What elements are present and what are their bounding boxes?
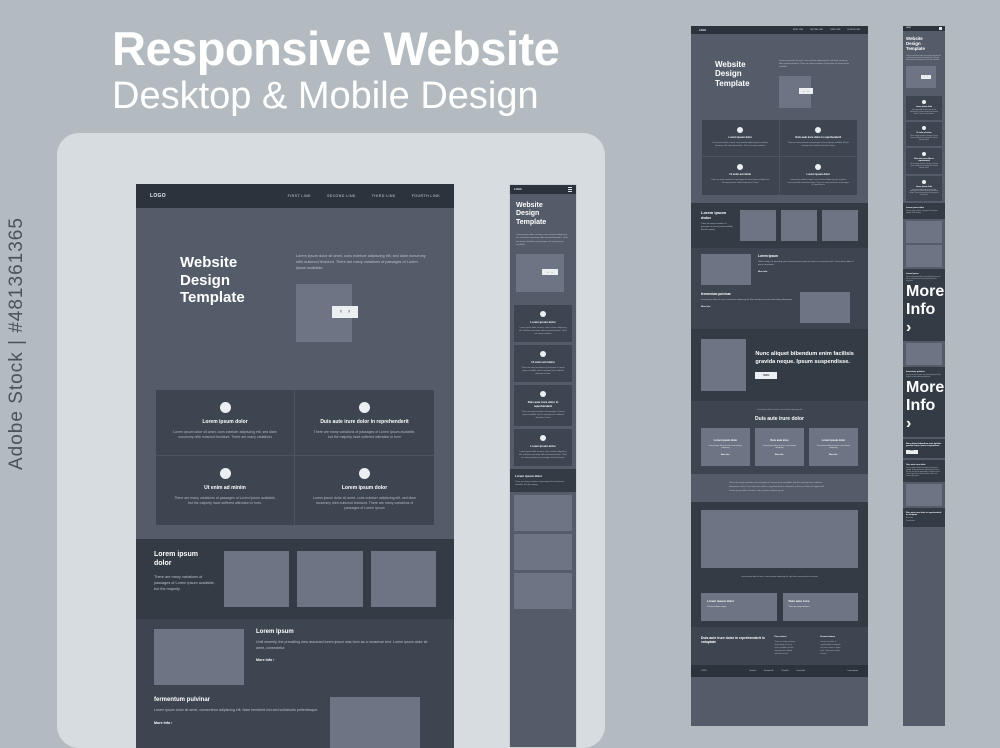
hero-title-line: Website xyxy=(516,202,570,210)
feature-text: Lorem ipsum dolor sit amet, cons ectetue… xyxy=(519,451,567,460)
feature-icon xyxy=(922,180,926,184)
mobile-mockup: LOGO Website Design Template Lorem ipsum… xyxy=(509,184,577,748)
card-text: Lorem ipsum dolor sit amet, cons ectetue… xyxy=(760,445,799,449)
feature-icon xyxy=(922,152,926,156)
feature-title: Ut enim ad minim xyxy=(729,173,751,176)
gallery-heading: Lorem ipsum dolor xyxy=(154,551,216,569)
duo-card-text: Ut laoreet dolore magna xyxy=(707,606,771,608)
gallery-text: Lorem ipsum dolor There are many variati… xyxy=(154,551,216,607)
mobile-hero-section: Website Design Template Lorem ipsum dolo… xyxy=(510,194,576,302)
card-more-link[interactable]: More Info › xyxy=(721,454,730,456)
feature-icon xyxy=(220,402,231,413)
nav-link-fourth[interactable]: FOURTH LINK xyxy=(847,29,860,31)
nav-link-fourth[interactable]: FOURTH LINK xyxy=(412,194,440,198)
gallery-paragraph: There are many variations of passages of… xyxy=(906,211,942,215)
feature-title: Lorem ipsum dolor xyxy=(202,419,247,425)
hero-paragraph: Lorem ipsum dolor sit amet, cons ectetue… xyxy=(516,234,570,248)
feature-text: Lorem ipsum dolor sit amet, cons ectetue… xyxy=(519,327,567,336)
feature-title: Duis aute irure dolor in reprehenderit xyxy=(795,136,841,139)
gallery-image[interactable] xyxy=(740,210,776,241)
gallery-section: Lorem ipsum dolor There are many variati… xyxy=(691,203,868,248)
mobile-gallery-section: Lorem ipsum dolor There are many variati… xyxy=(903,203,945,219)
feature-icon xyxy=(737,127,743,133)
carousel-next-icon[interactable]: › xyxy=(348,309,350,315)
hero-title-line: Design xyxy=(516,210,570,218)
feature-card[interactable]: Ut enim ad minim There are many variatio… xyxy=(156,456,295,526)
feature-text: There are many variations of passages of… xyxy=(909,164,939,170)
feature-card[interactable]: Lorem ipsum dolor Lorem ipsum dolor sit … xyxy=(295,456,434,526)
gallery-image[interactable] xyxy=(514,495,572,531)
logo[interactable]: LOGO xyxy=(150,193,166,199)
split-title: Lorem Ipsum xyxy=(256,629,436,635)
split-title: fermentum pulvinar xyxy=(701,292,793,296)
feature-title: Lorem ipsum dolor xyxy=(530,444,555,448)
footer-link[interactable]: sit amet xyxy=(820,653,858,656)
split-title: fermentum pulvinar xyxy=(906,371,942,373)
footer-copyright: Lorem ipsum xyxy=(848,670,858,672)
footer-column: Second column ut aute irure dolor in rep… xyxy=(820,636,858,657)
mobile-split-block: fermentum pulvinar Lorem ipsum dolor sit… xyxy=(903,367,945,437)
footer-bottom-link[interactable]: Fourth link xyxy=(797,670,805,672)
features-section: Lorem ipsum dolor Lorem ipsum dolor sit … xyxy=(702,120,857,195)
full-page-mobile-mockup: LOGO Website Design Template Lorem ipsum… xyxy=(903,26,945,726)
split-paragraph: Until recently, the prevailing view assu… xyxy=(758,261,858,267)
feature-card[interactable]: Lorem ipsum dolor Lorem ipsum dolor sit … xyxy=(514,429,572,466)
mobile-footer: Duis aute irure dolor in reprehenderit i… xyxy=(903,508,945,528)
hero-image-placeholder: ‹ › xyxy=(516,254,564,292)
gallery-section: Lorem ipsum dolor There are many variati… xyxy=(136,539,454,619)
mobile-cta-section: Nunc aliquet bibendum enim facilisis gra… xyxy=(903,439,945,458)
hamburger-icon[interactable] xyxy=(568,187,572,192)
footer-bottom-link[interactable]: First link xyxy=(749,670,756,672)
carousel-prev-icon[interactable]: ‹ xyxy=(548,270,549,274)
card-more-link[interactable]: More Info › xyxy=(775,454,784,456)
feature-card[interactable]: Lorem ipsum dolor Lorem ipsum dolor sit … xyxy=(906,96,942,120)
footer-bottom-links: First link Second link Third link Fourth… xyxy=(749,670,805,672)
feature-icon xyxy=(737,164,743,170)
gallery-image[interactable] xyxy=(906,221,942,243)
carousel-next-icon[interactable]: › xyxy=(927,76,928,78)
split-text: Lorem Ipsum Until recently, the prevaili… xyxy=(256,629,436,662)
nav-link-first[interactable]: FIRST LINK xyxy=(288,194,311,198)
hero-paragraph: Lorem ipsum dolor sit amet, cons ectetue… xyxy=(779,60,851,69)
feature-icon xyxy=(540,391,546,397)
footer-column-title: First column xyxy=(906,518,942,520)
split-image xyxy=(906,343,942,365)
duo-cards-section: Lorem ipsum dolor Ut laoreet dolore magn… xyxy=(691,587,868,627)
three-up-section: Lorem ipsum dolor sit amet, cons ectetue… xyxy=(691,401,868,474)
three-up-eyebrow: Lorem ipsum dolor sit amet, cons ectetue… xyxy=(701,409,858,411)
feature-card[interactable]: Lorem ipsum dolor Lorem ipsum dolor sit … xyxy=(514,305,572,342)
logo[interactable]: LOGO xyxy=(906,28,911,29)
feature-title: Ut enim ad minim xyxy=(204,485,246,491)
desktop-mockup: LOGO FIRST LINK SECOND LINK THIRD LINK F… xyxy=(136,184,454,748)
cta-image xyxy=(701,339,746,391)
site-navbar: LOGO FIRST LINK SECOND LINK THIRD LINK F… xyxy=(136,184,454,208)
footer-bottom-bar: LOGO First link Second link Third link F… xyxy=(691,665,868,677)
mobile-navbar: LOGO xyxy=(510,185,576,194)
card-text: Lorem ipsum dolor sit amet, cons ectetue… xyxy=(706,445,745,449)
duo-card-text: There are many variations xyxy=(789,606,853,608)
feature-card[interactable]: Duis aute irure dolor in reprehenderit T… xyxy=(514,385,572,426)
three-up-card[interactable]: Lorem ipsum dolor Lorem ipsum dolor sit … xyxy=(701,428,750,466)
cta-text: Nunc aliquet bibendum enim facilisis gra… xyxy=(755,351,858,379)
split-title: Lorem Ipsum xyxy=(906,273,942,275)
logo[interactable]: LOGO xyxy=(699,29,706,32)
nav-link-second[interactable]: SECOND LINK xyxy=(327,194,356,198)
split-image xyxy=(800,292,850,323)
card-more-link[interactable]: More Info › xyxy=(829,454,838,456)
card-text: Lorem ipsum dolor sit amet, cons ectetue… xyxy=(814,445,853,449)
mobile-gallery-section: Lorem ipsum dolor There are many variati… xyxy=(510,469,576,492)
gallery-image[interactable] xyxy=(514,534,572,570)
gallery-image[interactable] xyxy=(371,551,436,607)
split-row: Lorem Ipsum Until recently, the prevaili… xyxy=(701,254,858,285)
gallery-image[interactable] xyxy=(297,551,362,607)
feature-text: Lorem ipsum dolor sit amet, cons ectetue… xyxy=(172,430,278,441)
cta-heading: Nunc aliquet bibendum enim facilisis gra… xyxy=(755,351,858,366)
split-image xyxy=(330,697,420,748)
card-title: Lorem ipsum dolor xyxy=(714,439,738,442)
footer-column: First column There are many variations o… xyxy=(775,636,813,657)
split-paragraph: Lorem ipsum dolor sit amet, consectetur … xyxy=(154,708,318,714)
carousel-next-icon[interactable]: › xyxy=(808,89,809,93)
duo-card[interactable]: Duis aute irure There are many variation… xyxy=(783,593,859,621)
split-section: Lorem Ipsum Until recently, the prevaili… xyxy=(136,619,454,748)
feature-grid: Lorem ipsum dolor Lorem ipsum dolor sit … xyxy=(156,390,434,525)
split-image xyxy=(701,254,751,285)
three-up-card[interactable] xyxy=(906,484,942,506)
gallery-image[interactable] xyxy=(514,573,572,609)
split-paragraph: Lorem ipsum dolor sit amet, consectetur … xyxy=(701,299,793,302)
footer-heading: Duis aute irure dolor in reprehenderit i… xyxy=(701,636,767,657)
feature-title: Duis aute irure dolor in reprehenderit xyxy=(320,419,408,425)
hero-title-line: Template xyxy=(906,46,942,51)
split-row: fermentum pulvinar Lorem ipsum dolor sit… xyxy=(154,697,436,748)
watermark-label: Adobe Stock | #481361365 xyxy=(6,217,28,470)
split-text: fermentum pulvinar Lorem ipsum dolor sit… xyxy=(701,292,793,308)
feature-title: Duis aute irure dolor in reprehenderit xyxy=(909,158,939,162)
feature-card[interactable]: Ut enim ad minim There are many variatio… xyxy=(702,157,780,196)
cta-button[interactable]: INFO xyxy=(906,450,918,454)
feature-card[interactable]: Lorem ipsum dolor Lorem ipsum dolor sit … xyxy=(156,390,295,456)
split-section: Lorem Ipsum Until recently, the prevaili… xyxy=(691,248,868,329)
split-more-link[interactable]: More Info › xyxy=(154,721,318,725)
long-paragraph-section: There are many variations of passages of… xyxy=(691,474,868,501)
split-more-link[interactable]: More Info › xyxy=(758,271,858,273)
big-image-placeholder xyxy=(701,510,858,568)
duo-card-title: Duis aute irure xyxy=(789,599,853,603)
long-paragraph: There are many variations of passages of… xyxy=(906,468,942,478)
three-up-card[interactable]: Lorem ipsum dolor Lorem ipsum dolor sit … xyxy=(809,428,858,466)
gallery-image[interactable] xyxy=(781,210,817,241)
feature-icon xyxy=(922,126,926,130)
gallery-paragraph: There are many variations of passages of… xyxy=(701,223,735,232)
footer-column-title: Second column xyxy=(820,636,858,638)
nav-link-first[interactable]: FIRST LINK xyxy=(793,29,803,31)
nav-link-third[interactable]: THIRD LINK xyxy=(830,29,841,31)
nav-link-third[interactable]: THIRD LINK xyxy=(372,194,396,198)
feature-title: Ut enim ad minim xyxy=(917,132,932,134)
feature-card[interactable]: Ut enim ad minim There are many variatio… xyxy=(514,345,572,382)
duo-card-title: Lorem ipsum dolor xyxy=(707,599,771,603)
cta-section: Nunc aliquet bibendum enim facilisis gra… xyxy=(691,329,868,401)
feature-text: There are many variations of passages of… xyxy=(311,430,418,441)
site-navbar: LOGO FIRST LINK SECOND LINK THIRD LINK F… xyxy=(691,26,868,34)
feature-icon xyxy=(540,351,546,357)
feature-text: There are many variations of passages of… xyxy=(710,179,771,185)
footer-bottom-link[interactable]: Second link xyxy=(764,670,773,672)
feature-card[interactable]: Ut enim ad minim There are many variatio… xyxy=(906,122,942,146)
hero-image-placeholder: ‹ › xyxy=(906,66,936,88)
hero-title: Website Design Template xyxy=(906,36,942,52)
poster-title-block: Responsive Website Desktop & Mobile Desi… xyxy=(112,24,632,119)
three-up-card[interactable]: Duis aute irure Lorem ipsum dolor sit am… xyxy=(755,428,804,466)
hamburger-icon[interactable] xyxy=(939,27,942,30)
gallery-image[interactable] xyxy=(224,551,289,607)
split-row: Lorem Ipsum Until recently, the prevaili… xyxy=(154,629,436,685)
gallery-heading: Lorem ipsum dolor xyxy=(701,210,735,220)
split-more-link[interactable]: More Info › xyxy=(906,283,942,337)
feature-card[interactable]: Duis aute irure dolor in reprehenderit T… xyxy=(295,390,434,456)
nav-link-second[interactable]: SECOND LINK xyxy=(810,29,823,31)
feature-card[interactable]: Lorem ipsum dolor Lorem ipsum dolor sit … xyxy=(702,120,780,157)
carousel-controls[interactable]: ‹ › xyxy=(921,75,931,79)
feature-icon xyxy=(540,311,546,317)
split-text: Lorem Ipsum Until recently, the prevaili… xyxy=(758,254,858,273)
feature-icon xyxy=(815,164,821,170)
features-section: Lorem ipsum dolor Lorem ipsum dolor sit … xyxy=(156,390,434,525)
hero-paragraph: Lorem ipsum dolor sit amet, cons ectetue… xyxy=(906,56,942,63)
page-title: Responsive Website xyxy=(112,24,632,73)
feature-text: There are many variations of passages of… xyxy=(519,411,567,420)
footer-link[interactable]: alteration in form xyxy=(775,653,813,656)
feature-text: Lorem ipsum dolor sit amet, cons ectetue… xyxy=(710,142,771,148)
duo-card[interactable]: Lorem ipsum dolor Ut laoreet dolore magn… xyxy=(701,593,777,621)
card-title: Duis aute irure xyxy=(770,439,788,442)
feature-icon xyxy=(359,402,370,413)
split-more-link[interactable]: More Info › xyxy=(701,306,793,308)
feature-title: Lorem ipsum dolor xyxy=(916,186,932,188)
hero-section: Website Design Template Lorem ipsum dolo… xyxy=(136,208,454,376)
gallery-text: Lorem ipsum dolor There are many variati… xyxy=(701,210,735,241)
gallery-heading: Lorem ipsum dolor xyxy=(515,474,571,478)
carousel-controls[interactable]: ‹ › xyxy=(332,306,358,318)
footer-heading: Duis aute irure dolor in reprehenderit i… xyxy=(906,512,942,516)
feature-text: There are many variations of passages of… xyxy=(909,136,939,142)
feature-card[interactable]: Duis aute irure dolor in reprehenderit T… xyxy=(906,148,942,174)
feature-text: Lorem ipsum dolor sit amet, cons ectetue… xyxy=(788,179,850,188)
split-more-link[interactable]: More Info › xyxy=(256,658,436,662)
logo[interactable]: LOGO xyxy=(514,188,522,191)
footer-logo[interactable]: LOGO xyxy=(701,670,707,672)
carousel-controls[interactable]: ‹ › xyxy=(799,88,813,94)
footer-bottom-link[interactable]: Third link xyxy=(781,670,788,672)
nav-links: FIRST LINK SECOND LINK THIRD LINK FOURTH… xyxy=(288,194,440,198)
split-more-link[interactable]: More Info › xyxy=(906,379,942,433)
gallery-heading: Lorem ipsum dolor xyxy=(906,207,942,209)
hero-paragraph: Lorem ipsum dolor sit amet, cons ectetue… xyxy=(296,254,426,272)
hero-title-line: Template xyxy=(516,219,570,227)
carousel-prev-icon[interactable]: ‹ xyxy=(340,309,342,315)
gallery-image[interactable] xyxy=(822,210,858,241)
split-image xyxy=(154,629,244,685)
gallery-paragraph: There are many variations of passages of… xyxy=(515,481,571,487)
feature-title: Lorem ipsum dolor xyxy=(807,173,831,176)
hero-title: Website Design Template xyxy=(516,202,570,227)
feature-card[interactable]: Lorem ipsum dolor Lorem ipsum dolor sit … xyxy=(780,157,858,196)
feature-icon xyxy=(922,100,926,104)
carousel-controls[interactable]: ‹ › xyxy=(542,269,558,275)
big-image-section xyxy=(691,502,868,576)
feature-title: Duis aute irure dolor in reprehenderit xyxy=(519,400,567,408)
carousel-prev-icon[interactable]: ‹ xyxy=(804,89,805,93)
feature-title: Lorem ipsum dolor xyxy=(342,485,387,491)
three-up-grid: Lorem ipsum dolor Lorem ipsum dolor sit … xyxy=(701,428,858,466)
split-paragraph: Until recently, the prevailing view assu… xyxy=(256,640,436,651)
feature-icon xyxy=(815,127,821,133)
feature-title: Lorem ipsum dolor xyxy=(916,106,932,108)
feature-icon xyxy=(359,468,370,479)
split-text: fermentum pulvinar Lorem ipsum dolor sit… xyxy=(154,697,318,725)
feature-title: Lorem ipsum dolor xyxy=(729,136,753,139)
feature-text: Lorem ipsum dolor sit amet, cons ectetue… xyxy=(909,110,939,116)
carousel-next-icon[interactable]: › xyxy=(552,270,553,274)
footer-column-title: Second column xyxy=(906,521,942,523)
feature-text: There are many variations of passages of… xyxy=(172,496,278,507)
hero-section: Website Design Template Lorem ipsum dolo… xyxy=(691,34,868,112)
feature-icon xyxy=(220,468,231,479)
cta-heading: Nunc aliquet bibendum enim facilisis gra… xyxy=(906,443,942,447)
mobile-three-up-heading: Duis aute irure dolor There are many var… xyxy=(903,460,945,482)
feature-title: Lorem ipsum dolor xyxy=(530,320,555,324)
feature-text: There are many variations of passages of… xyxy=(519,367,567,376)
footer-column-title: First column xyxy=(775,636,813,638)
nav-links: FIRST LINK SECOND LINK THIRD LINK FOURTH… xyxy=(793,29,860,31)
feature-card[interactable]: Duis aute irure dolor in reprehenderit T… xyxy=(780,120,858,157)
carousel-prev-icon[interactable]: ‹ xyxy=(924,76,925,78)
split-title: fermentum pulvinar xyxy=(154,697,318,703)
mobile-split-block: Lorem Ipsum Until recently, the prevaili… xyxy=(903,269,945,341)
split-row: fermentum pulvinar Lorem ipsum dolor sit… xyxy=(701,292,858,323)
card-title: Lorem ipsum dolor xyxy=(822,439,846,442)
feature-text: Lorem ipsum dolor sit amet, cons ectetue… xyxy=(311,496,418,512)
feature-title: Ut enim ad minim xyxy=(531,360,554,364)
feature-icon xyxy=(540,435,546,441)
three-up-heading: Duis aute irure dolor xyxy=(906,464,942,466)
feature-card[interactable]: Lorem ipsum dolor Lorem ipsum dolor sit … xyxy=(906,176,942,202)
feature-text: There are many variations of passages of… xyxy=(788,142,850,148)
split-title: Lorem Ipsum xyxy=(758,254,858,258)
gallery-image[interactable] xyxy=(906,245,942,267)
three-up-heading: Duis aute irure dolor xyxy=(701,416,858,422)
full-page-desktop-mockup: LOGO FIRST LINK SECOND LINK THIRD LINK F… xyxy=(691,26,868,726)
gallery-paragraph: There are many variations of passages of… xyxy=(154,575,216,593)
site-footer: Duis aute irure dolor in reprehenderit i… xyxy=(691,627,868,666)
mobile-hero-section: Website Design Template Lorem ipsum dolo… xyxy=(903,31,945,94)
feature-grid: Lorem ipsum dolor Lorem ipsum dolor sit … xyxy=(702,120,857,195)
feature-text: Lorem ipsum dolor sit amet, cons ectetue… xyxy=(909,190,939,198)
big-image-caption: Lorem ipsum dolor sit amet, cons ectetue… xyxy=(691,576,868,587)
page-subtitle: Desktop & Mobile Design xyxy=(112,75,632,119)
cta-button[interactable]: INFO xyxy=(755,372,777,379)
